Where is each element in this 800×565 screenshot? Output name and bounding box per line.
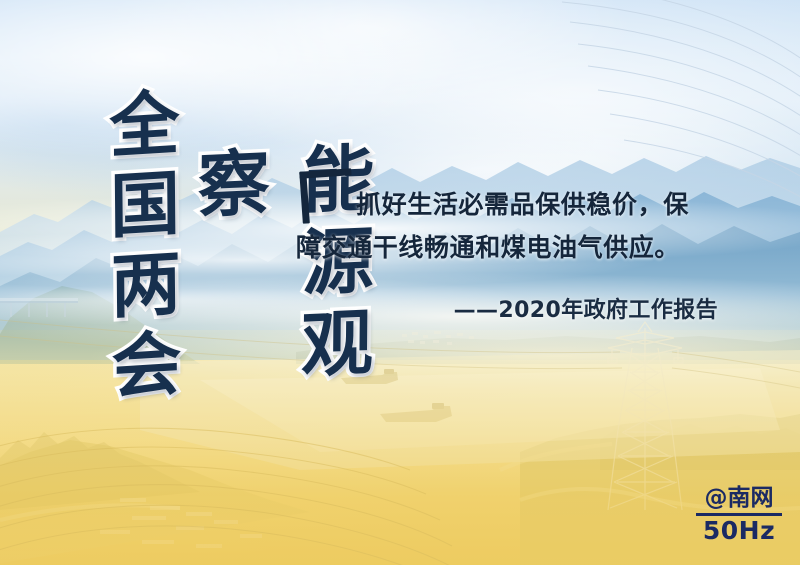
quote-line-2: 障交通干线畅通和煤电油气供应。 bbox=[296, 226, 776, 269]
logo-tagline: 50Hz bbox=[696, 518, 782, 543]
brand-logo: @南网 50Hz bbox=[696, 487, 782, 543]
poster-canvas: 全国两会 能源观察 抓好生活必需品保供稳价，保 障交通干线畅通和煤电油气供应。 … bbox=[0, 0, 800, 565]
quote-attribution: ——2020年政府工作报告 bbox=[356, 292, 718, 324]
poster-title: 全国两会 能源观察 bbox=[78, 88, 298, 468]
quote-line-1: 抓好生活必需品保供稳价，保 bbox=[356, 183, 776, 226]
quote-text: 抓好生活必需品保供稳价，保 障交通干线畅通和煤电油气供应。 bbox=[356, 183, 776, 269]
corner-bracket-icon bbox=[299, 168, 355, 224]
logo-name: @南网 bbox=[696, 487, 782, 512]
title-column-2: 能源观察 bbox=[173, 139, 386, 473]
